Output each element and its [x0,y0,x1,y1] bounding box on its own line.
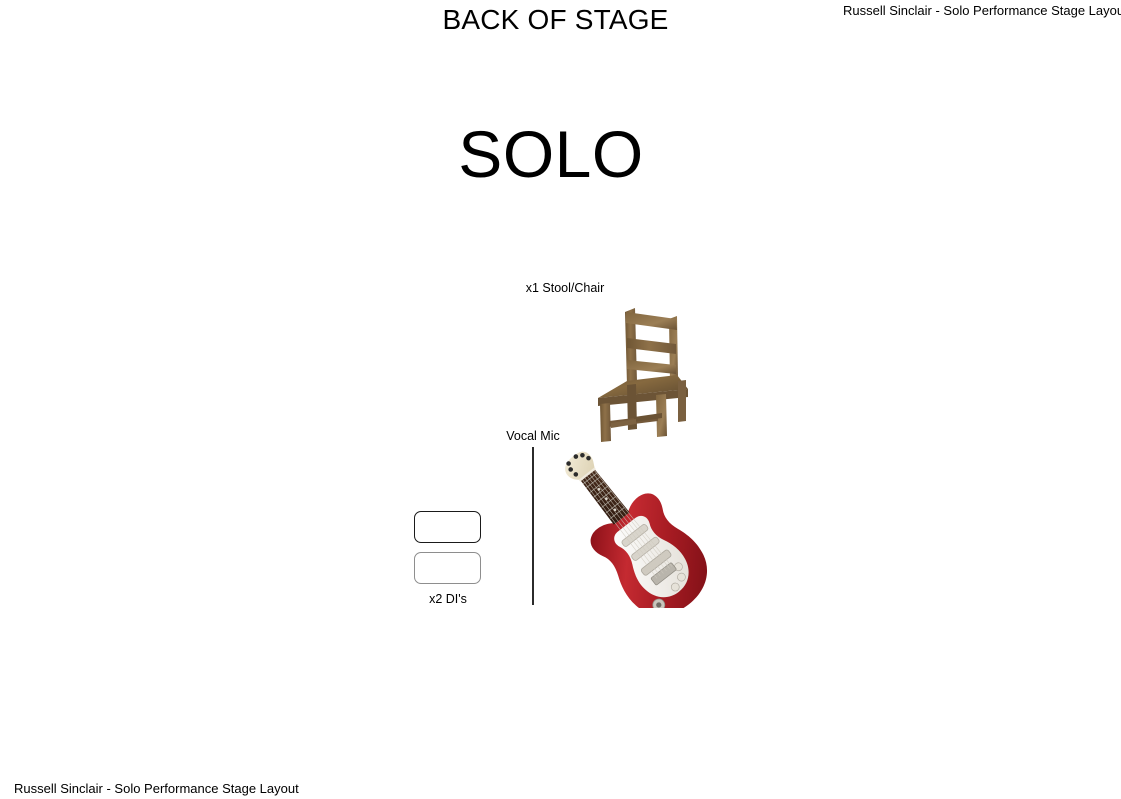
di-box-icon-1 [414,511,481,543]
document-footer-title: Russell Sinclair - Solo Performance Stag… [14,781,299,797]
stool-chair-label: x1 Stool/Chair [465,281,665,296]
electric-guitar-icon [538,440,714,608]
page-title: SOLO [0,114,1102,194]
di-box-icon-2 [414,552,481,584]
stage-layout-canvas: Russell Sinclair - Solo Performance Stag… [0,0,1121,799]
mic-stand-icon [532,447,534,605]
wooden-chair-icon [578,305,694,447]
back-of-stage-label: BACK OF STAGE [0,3,1111,36]
di-boxes-label: x2 DI's [378,592,518,607]
